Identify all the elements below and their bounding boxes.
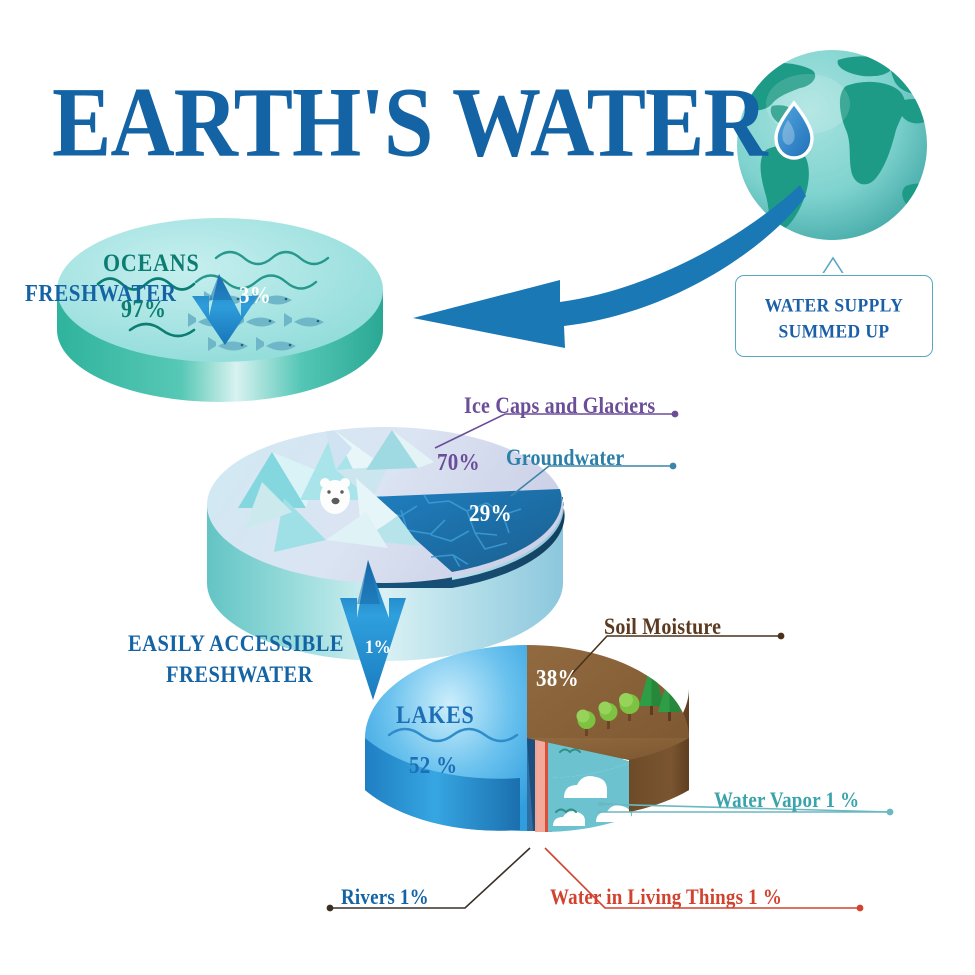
groundwater-value: 29%	[469, 502, 512, 526]
ice-caps-leader-dot	[672, 411, 679, 418]
callout-line-1: WATER SUPPLY	[736, 294, 932, 317]
callout-line-2: SUMMED UP	[736, 320, 932, 343]
easily-accessible-value: 1%	[365, 637, 391, 656]
page-title: EARTH'S WATER	[52, 74, 767, 173]
soil-moisture-label: Soil Moisture	[604, 616, 721, 639]
globe-icon	[737, 50, 945, 240]
lakes-value: 52 %	[409, 754, 457, 778]
easily-accessible-label-line-1: EASILY ACCESSIBLE	[128, 633, 344, 656]
rivers-leader-dot	[327, 905, 334, 912]
groundwater-label: Groundwater	[506, 447, 625, 470]
oceans-label: OCEANS	[103, 250, 200, 275]
lakes-label: LAKES	[396, 702, 475, 727]
groundwater-leader-dot	[670, 463, 677, 470]
vapor-leader-dot	[887, 809, 894, 816]
polar-bear-icon	[320, 478, 350, 514]
water-vapor-label: Water Vapor 1 %	[714, 790, 859, 812]
ice-caps-value: 70%	[437, 451, 480, 475]
easily-accessible-label-line-2: FRESHWATER	[166, 664, 313, 687]
soil-moisture-value: 38%	[536, 667, 579, 691]
ice-caps-label: Ice Caps and Glaciers	[464, 395, 655, 418]
living-things-leader-dot	[857, 905, 864, 912]
conifer-icon	[690, 660, 713, 709]
freshwater-value: 3%	[239, 284, 271, 308]
freshwater-label: FRESHWATER	[25, 282, 176, 306]
infographic-canvas: EARTH'S WATER WATER SUPPLY SUMMED UP OCE…	[0, 0, 975, 975]
rivers-label: Rivers 1%	[341, 887, 429, 909]
soil-leader-dot	[778, 633, 785, 640]
water-supply-callout: WATER SUPPLY SUMMED UP	[735, 275, 933, 357]
living-things-label: Water in Living Things 1 %	[550, 887, 782, 909]
